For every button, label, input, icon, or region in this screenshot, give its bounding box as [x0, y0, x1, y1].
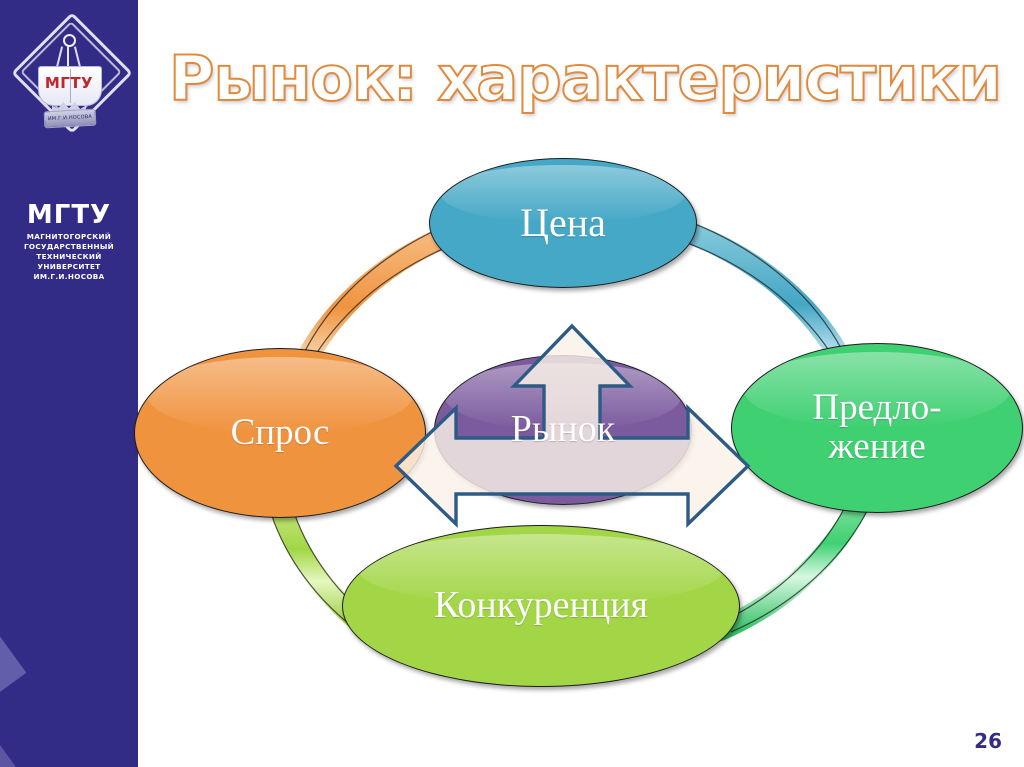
branding-sidebar: МГТУ ИМ.Г.И.НОСОВА МГТУ МАГНИТОГОРСКИЙ Г… [0, 0, 138, 767]
node-competition-label: Конкуренция [434, 586, 648, 626]
node-supply-label: Предло- жение [812, 389, 941, 467]
node-price-label: Цена [520, 202, 606, 244]
wordmark-subtitle-line: МАГНИТОГОРСКИЙ [0, 232, 138, 242]
wordmark: МГТУ [0, 200, 138, 230]
crest-ribbon-label: ИМ.Г.И.НОСОВА [45, 110, 96, 127]
node-demand-label: Спрос [231, 414, 330, 453]
crest-compass-pivot [63, 34, 76, 47]
node-demand[interactable]: Спрос [134, 348, 426, 518]
sidebar-stripe [0, 430, 26, 714]
page-number: 26 [974, 729, 1002, 753]
node-price[interactable]: Цена [429, 158, 697, 288]
slide-canvas: МГТУ ИМ.Г.И.НОСОВА МГТУ МАГНИТОГОРСКИЙ Г… [0, 0, 1024, 767]
wordmark-subtitle-line: ИМ.Г.И.НОСОВА [0, 272, 138, 282]
sidebar-stripe [0, 690, 113, 767]
node-supply-label-line1: Предло- [812, 387, 941, 428]
node-market-label: Рынок [511, 410, 615, 450]
wordmark-subtitle: МАГНИТОГОРСКИЙ ГОСУДАРСТВЕННЫЙ ТЕХНИЧЕСК… [0, 232, 138, 282]
node-supply-label-line2: жение [828, 426, 926, 467]
wordmark-subtitle-line: УНИВЕРСИТЕТ [0, 262, 138, 272]
wordmark-subtitle-line: ГОСУДАРСТВЕННЫЙ [0, 242, 138, 252]
node-supply[interactable]: Предло- жение [731, 343, 1023, 513]
crest-ribbon: ИМ.Г.И.НОСОВА [44, 109, 97, 129]
cycle-diagram: Цена Спрос Предло- жение Конкуренция Рын… [120, 130, 1024, 720]
crest-acronym: МГТУ [38, 74, 100, 92]
wordmark-subtitle-line: ТЕХНИЧЕСКИЙ [0, 252, 138, 262]
university-crest-icon: МГТУ ИМ.Г.И.НОСОВА [18, 26, 120, 166]
slide-title: Рынок: характеристики [150, 36, 1020, 122]
